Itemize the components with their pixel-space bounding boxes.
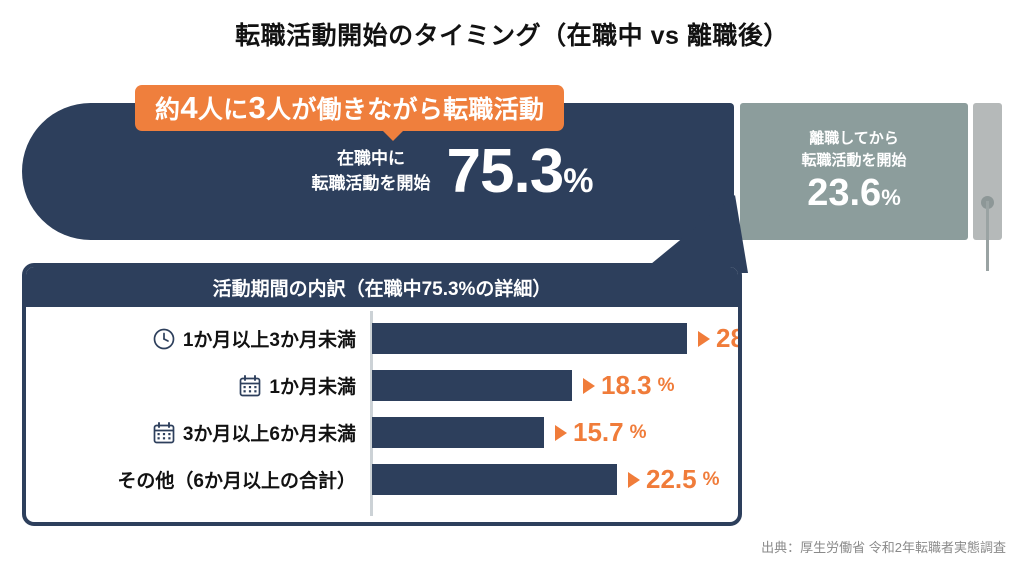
- segment-after-leaving: 離職してから 転職活動を開始 23.6%: [740, 103, 968, 240]
- bar-value-number: 18.3: [601, 370, 652, 401]
- triangle-marker-icon: [628, 472, 640, 488]
- bar-fill: [372, 370, 572, 401]
- in-employment-unit: %: [563, 162, 592, 200]
- table-row: その他（6か月以上の合計） 22.5%: [26, 456, 738, 503]
- in-employment-label-line1: 在職中に: [337, 149, 405, 168]
- after-leaving-number: 23.6: [807, 172, 881, 214]
- highlight-number-1: 4: [180, 90, 198, 126]
- bar-label-group: その他（6か月以上の合計）: [117, 456, 356, 503]
- in-employment-number: 75.3: [447, 137, 564, 206]
- bar-label: 1か月未満: [269, 372, 356, 399]
- clock-icon: [152, 327, 176, 351]
- bar-label-group: 1か月未満: [238, 362, 356, 409]
- after-leaving-unit: %: [881, 185, 901, 210]
- breakdown-panel: 活動期間の内訳（在職中75.3%の詳細） 1か月以上3か月未満: [22, 263, 742, 526]
- calendar-icon: [238, 374, 262, 398]
- bar-label: 1か月以上3か月未満: [183, 325, 356, 352]
- table-row: 1か月未満 18.3%: [26, 362, 738, 409]
- bar-value: 15.7%: [555, 417, 647, 448]
- table-row: 1か月以上3か月未満 28.8%: [26, 315, 738, 362]
- after-leaving-label: 離職してから 転職活動を開始: [801, 128, 906, 172]
- highlight-banner-notch-icon: [382, 130, 404, 141]
- segment-other: [973, 103, 1002, 240]
- triangle-marker-icon: [698, 331, 710, 347]
- breakdown-chart: 1か月以上3か月未満 28.8%: [26, 307, 738, 522]
- bar-value-number: 28.8: [716, 323, 742, 354]
- triangle-marker-icon: [555, 425, 567, 441]
- after-leaving-label-line1: 離職してから: [809, 130, 899, 147]
- bar-value-unit: %: [630, 422, 647, 444]
- bar-value: 18.3%: [583, 370, 675, 401]
- breakdown-header: 活動期間の内訳（在職中75.3%の詳細）: [26, 267, 738, 307]
- after-leaving-value: 23.6%: [807, 173, 901, 215]
- bar-fill: [372, 464, 617, 495]
- bar-label: 3か月以上6か月未満: [183, 419, 356, 446]
- highlight-suffix: 人が働きながら転職活動: [266, 90, 544, 126]
- triangle-marker-icon: [583, 378, 595, 394]
- bar-value: 22.5%: [628, 464, 720, 495]
- table-row: 3か月以上6か月未満 15.7%: [26, 409, 738, 456]
- bar-value-number: 15.7: [573, 417, 624, 448]
- bar-label-group: 3か月以上6か月未満: [152, 409, 356, 456]
- bar-value: 28.8%: [698, 323, 742, 354]
- page-title: 転職活動開始のタイミング（在職中 vs 離職後）: [0, 16, 1024, 52]
- highlight-banner: 約4人に3人が働きながら転職活動: [135, 85, 564, 131]
- highlight-number-2: 3: [248, 90, 266, 126]
- after-leaving-label-line2: 転職活動を開始: [801, 152, 906, 169]
- infographic-canvas: 転職活動開始のタイミング（在職中 vs 離職後） 在職中に 転職活動を開始 75…: [0, 0, 1024, 572]
- bar-value-number: 22.5: [646, 464, 697, 495]
- bar-value-unit: %: [703, 469, 720, 491]
- calendar-icon: [152, 421, 176, 445]
- bar-track: 18.3%: [372, 370, 675, 401]
- other-pin-line-icon: [986, 201, 989, 271]
- bar-track: 22.5%: [372, 464, 720, 495]
- highlight-prefix: 約: [155, 90, 180, 126]
- bar-track: 28.8%: [372, 323, 742, 354]
- bar-track: 15.7%: [372, 417, 647, 448]
- bar-fill: [372, 323, 687, 354]
- bar-value-unit: %: [658, 375, 675, 397]
- bar-fill: [372, 417, 544, 448]
- bar-label: その他（6か月以上の合計）: [117, 466, 356, 493]
- highlight-mid: 人に: [198, 90, 249, 126]
- source-note: 出典：厚生労働省 令和2年転職者実態調査: [761, 537, 1006, 556]
- in-employment-label-line2: 転職活動を開始: [312, 174, 431, 193]
- in-employment-value: 75.3%: [447, 141, 593, 203]
- in-employment-label: 在職中に 転職活動を開始: [312, 147, 431, 196]
- bar-label-group: 1か月以上3か月未満: [152, 315, 356, 362]
